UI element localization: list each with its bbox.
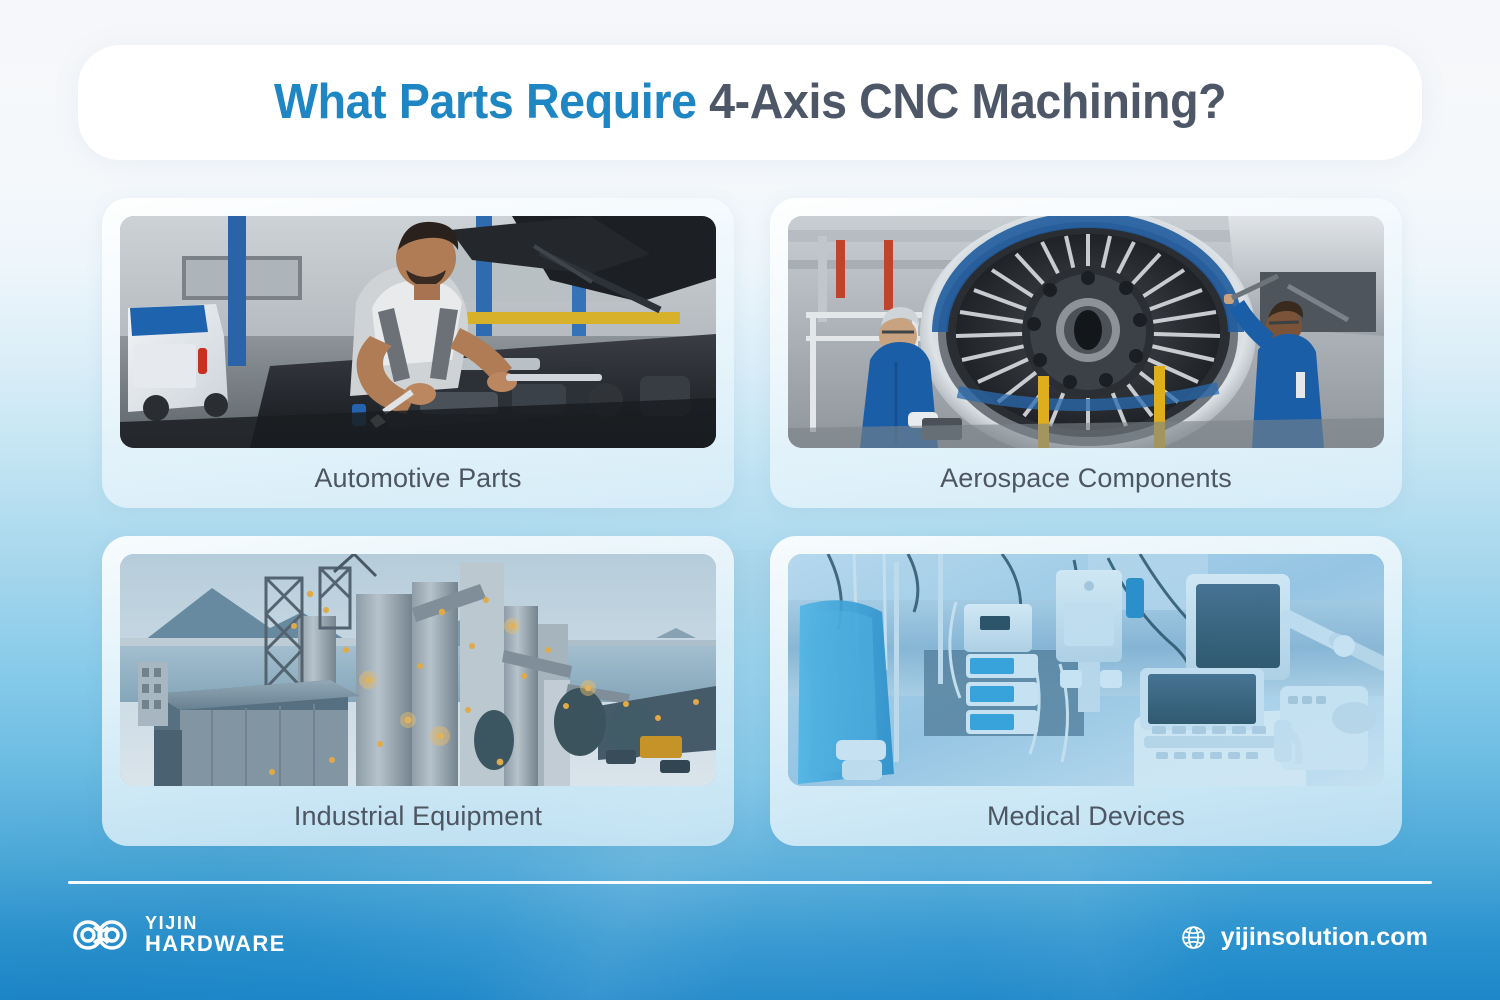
website-link[interactable]: yijinsolution.com [1181, 923, 1428, 952]
footer: YIJIN HARDWARE yijinsolution.com [0, 900, 1500, 990]
brand-name-bottom: HARDWARE [145, 933, 286, 955]
website-url-text: yijinsolution.com [1221, 923, 1428, 952]
category-card-label: Industrial Equipment [120, 786, 716, 846]
brand-name-top: YIJIN [145, 914, 286, 932]
aerospace-components-photo [788, 216, 1384, 448]
automotive-parts-photo [120, 216, 716, 448]
category-card-aerospace-components[interactable]: Aerospace Components [770, 198, 1402, 508]
category-card-medical-devices[interactable]: Medical Devices [770, 536, 1402, 846]
brand-logo: YIJIN HARDWARE [70, 914, 286, 956]
category-card-industrial-equipment[interactable]: Industrial Equipment [102, 536, 734, 846]
category-card-grid: Automotive Parts [102, 198, 1402, 846]
infinity-loop-icon [70, 915, 132, 955]
category-card-label: Medical Devices [788, 786, 1384, 846]
page-title-accent: What Parts Require [274, 75, 697, 129]
page-title-main: 4-Axis CNC Machining? [709, 75, 1226, 129]
infographic-page: What Parts Require 4-Axis CNC Machining? [0, 0, 1500, 1000]
medical-devices-photo [788, 554, 1384, 786]
category-card-label: Automotive Parts [120, 448, 716, 508]
globe-icon [1181, 925, 1206, 950]
brand-wordmark: YIJIN HARDWARE [145, 914, 286, 956]
category-card-label: Aerospace Components [788, 448, 1384, 508]
title-banner: What Parts Require 4-Axis CNC Machining? [78, 45, 1422, 160]
page-title: What Parts Require 4-Axis CNC Machining? [274, 78, 1226, 127]
industrial-equipment-photo [120, 554, 716, 786]
category-card-automotive-parts[interactable]: Automotive Parts [102, 198, 734, 508]
footer-divider [68, 881, 1432, 884]
